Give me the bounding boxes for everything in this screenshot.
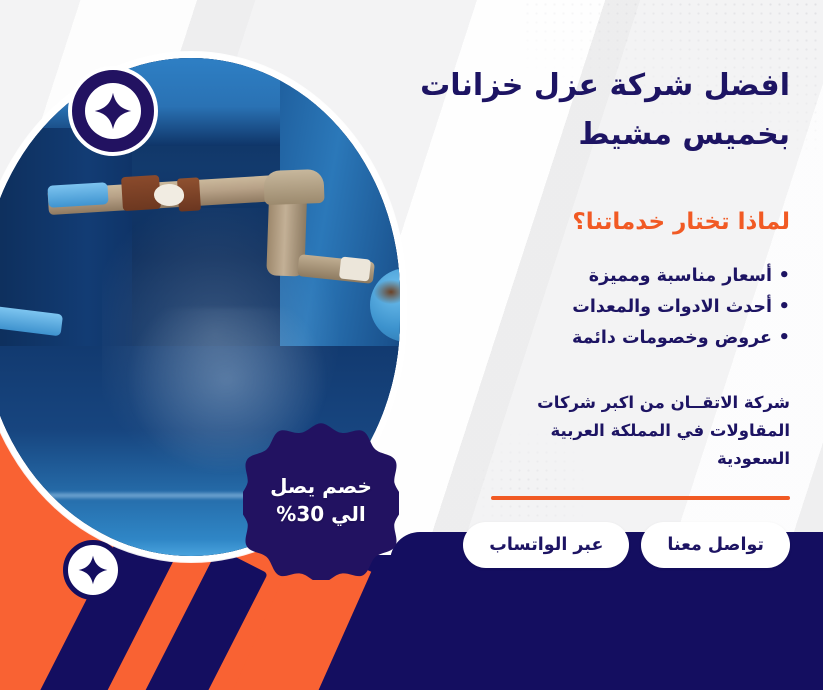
contact-us-button[interactable]: تواصل معنا [641, 522, 790, 568]
promo-poster: خصم يصل الي 30% افضل شركة عزل خزانات بخم… [0, 0, 823, 690]
company-description: شركة الاتقــان من اكبر شركات المقاولات ف… [398, 389, 790, 474]
company-description-line-1: شركة الاتقــان من اكبر شركات [398, 389, 790, 417]
discount-badge-line1: خصم يصل [270, 472, 372, 500]
list-item: عروض وخصومات دائمة [398, 323, 790, 354]
horizontal-pipe-blue-section [47, 182, 108, 208]
company-description-line-2: المقاولات في المملكة العربية [398, 417, 790, 445]
subheading: لماذا تختار خدماتنا؟ [398, 209, 790, 235]
discount-badge-line2: الي 30% [270, 500, 372, 528]
discount-badge: خصم يصل الي 30% [243, 420, 399, 580]
page-title: افضل شركة عزل خزانات بخميس مشيط [398, 62, 790, 159]
whatsapp-button[interactable]: عبر الواتساب [463, 522, 629, 568]
brand-logo-top [68, 66, 158, 156]
orange-divider [491, 496, 790, 500]
float-ball-rust [374, 280, 400, 304]
headline-line-1: افضل شركة عزل خزانات [398, 62, 790, 111]
headline-line-2: بخميس مشيط [398, 111, 790, 160]
text-content-column: افضل شركة عزل خزانات بخميس مشيط لماذا تخ… [398, 62, 790, 568]
list-item: أسعار مناسبة ومميزة [398, 261, 790, 292]
company-description-line-3: السعودية [398, 445, 790, 473]
pipe-elbow-joint [263, 169, 324, 205]
list-item: أحدث الادوات والمعدات [398, 292, 790, 323]
four-point-star-icon [94, 92, 132, 130]
pipe-stub-fitting [339, 256, 371, 281]
four-point-star-icon [78, 555, 108, 585]
brand-logo-bottom [63, 540, 123, 600]
brand-logo-top-inner [85, 83, 141, 139]
discount-badge-text: خصم يصل الي 30% [270, 472, 372, 529]
cta-button-row: تواصل معنا عبر الواتساب [398, 522, 790, 568]
benefits-list: أسعار مناسبة ومميزة أحدث الادوات والمعدا… [398, 261, 790, 354]
